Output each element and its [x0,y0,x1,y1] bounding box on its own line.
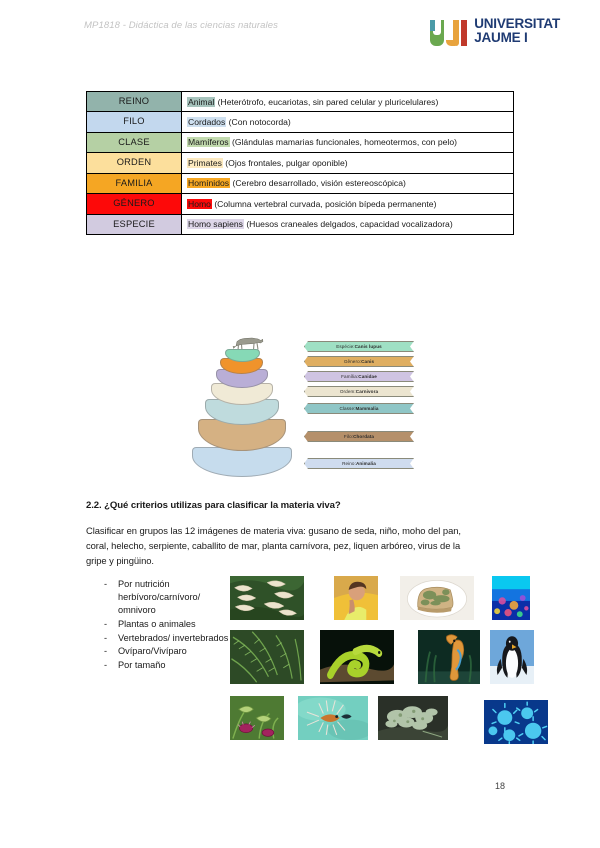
taxonomy-description-cell: Cordados (Con notocorda) [182,112,514,132]
table-row: CLASEMamíferos (Glándulas mamarias funci… [87,132,514,152]
taxon-name: Homo sapiens [187,219,244,229]
taxonomy-description-cell: Homo (Columna vertebral curvada, posició… [182,194,514,214]
rank-label-chip: Ordem: Carnivora [304,386,414,397]
photo-gusano-de-seda [230,576,304,620]
list-item: -Plantas o animales [104,618,229,631]
list-item: -Por nutrición herbívoro/carnívoro/ omni… [104,578,229,617]
taxonomy-table-body: REINOAnimal (Heterótrofo, eucariotas, si… [87,92,514,235]
taxonomy-rank-cell: ORDEN [87,153,182,173]
photo-liquen-arboreo [378,696,448,740]
rank-label-taxon: Carnivora [356,389,378,394]
page-header: MP1818 - Didáctica de las ciencias natur… [84,16,560,62]
table-row: ESPECIEHomo sapiens (Huesos craneales de… [87,214,514,234]
page-number: 18 [495,781,505,791]
logo-letter-j [446,20,459,46]
taxonomy-table: REINOAnimal (Heterótrofo, eucariotas, si… [86,91,514,235]
section-body-text: Clasificar en grupos las 12 imágenes de … [86,523,468,569]
taxonomy-description-cell: Animal (Heterótrofo, eucariotas, sin par… [182,92,514,112]
taxonomy-rank-cell: FAMILIA [87,173,182,193]
list-item: -Ovíparo/Vivíparo [104,645,229,658]
rank-label-taxon: Mammalia [356,406,379,411]
table-row: REINOAnimal (Heterótrofo, eucariotas, si… [87,92,514,112]
list-item: -Por tamaño [104,659,229,672]
table-row: FAMILIAHomínidos (Cerebro desarrollado, … [87,173,514,193]
taxonomy-rank-cell: FILO [87,112,182,132]
course-code: MP1818 - Didáctica de las ciencias natur… [84,20,278,31]
rank-label-rank: Reino: [342,461,356,466]
uji-logo: UNIVERSITAT JAUME I [430,16,560,46]
rank-label-chip: Reino: Animalia [304,458,414,469]
rank-label-taxon: Canis lupus [355,344,382,349]
taxonomy-description-cell: Mamíferos (Glándulas mamarias funcionale… [182,132,514,152]
taxonomy-description-cell: Primates (Ojos frontales, pulgar oponibl… [182,153,514,173]
rank-label-taxon: Canis [361,359,374,364]
rank-label-rank: Classe: [339,406,355,411]
rank-label-chip: Família: Canidae [304,371,414,382]
taxonomy-description-cell: Homínidos (Cerebro desarrollado, visión … [182,173,514,193]
rank-label-rank: Gênero: [344,359,361,364]
table-row: FILOCordados (Con notocorda) [87,112,514,132]
rank-label-rank: Família: [341,374,358,379]
taxon-traits: (Huesos craneales delgados, capacidad vo… [244,219,453,229]
taxonomic-hierarchy-figure: Espécie: Canis lupusGênero: CanisFamília… [186,333,414,478]
rank-label-rank: Ordem: [340,389,356,394]
taxon-traits: (Ojos frontales, pulgar oponible) [223,158,348,168]
photo-nino [334,576,378,620]
rank-label-taxon: Canidae [358,374,377,379]
table-row: GÉNEROHomo (Columna vertebral curvada, p… [87,194,514,214]
uji-wordmark-line1: UNIVERSITAT [474,17,560,31]
photo-moho-del-pan [400,576,474,620]
taxon-name: Homo [187,199,212,209]
bullet-dash: - [104,578,108,617]
table-row: ORDENPrimates (Ojos frontales, pulgar op… [87,153,514,173]
uji-logomark-icon [430,16,467,46]
photo-caballito-de-mar [418,630,480,684]
bullet-dash: - [104,632,108,645]
taxon-traits: (Heterótrofo, eucariotas, sin pared celu… [215,97,438,107]
criteria-item-label: Por nutrición herbívoro/carnívoro/ omniv… [118,578,229,617]
taxonomy-rank-cell: REINO [87,92,182,112]
rank-label-chip: Classe: Mammalia [304,403,414,414]
rank-label-taxon: Animalia [356,461,376,466]
taxonomy-bowl-layer [192,447,292,477]
list-item: -Vertebrados/ invertebrados [104,632,229,645]
taxon-traits: (Con notocorda) [226,117,291,127]
criteria-item-label: Plantas o animales [118,618,196,631]
photo-helecho [230,630,304,684]
photo-serpiente [320,630,394,684]
logo-letter-u [430,20,444,46]
section-heading: 2.2. ¿Qué criterios utilizas para clasif… [86,500,341,511]
bullet-dash: - [104,645,108,658]
taxonomy-description-cell: Homo sapiens (Huesos craneales delgados,… [182,214,514,234]
rank-label-chip: Espécie: Canis lupus [304,341,414,352]
rank-label-chip: Gênero: Canis [304,356,414,367]
taxon-name: Cordados [187,117,226,127]
taxon-name: Animal [187,97,215,107]
taxonomic-rank-labels: Espécie: Canis lupusGênero: CanisFamília… [304,341,414,476]
criteria-item-label: Por tamaño [118,659,166,672]
taxonomy-rank-cell: CLASE [87,132,182,152]
rank-label-chip: Filo: Chordata [304,431,414,442]
bullet-dash: - [104,659,108,672]
taxon-name: Primates [187,158,223,168]
uji-wordmark: UNIVERSITAT JAUME I [474,17,560,45]
rank-label-rank: Espécie: [336,344,354,349]
nested-bowls-illustration [190,335,294,477]
taxon-traits: (Glándulas mamarias funcionales, homeote… [230,137,457,147]
taxon-traits: (Columna vertebral curvada, posición bíp… [212,199,437,209]
criteria-list: -Por nutrición herbívoro/carnívoro/ omni… [104,578,229,673]
photo-pez [298,696,368,740]
taxon-name: Homínidos [187,178,230,188]
photo-coral [492,576,530,620]
photo-virus-de-la-gripe [484,700,548,744]
taxonomy-rank-cell: ESPECIE [87,214,182,234]
bullet-dash: - [104,618,108,631]
criteria-item-label: Ovíparo/Vivíparo [118,645,187,658]
criteria-item-label: Vertebrados/ invertebrados [118,632,228,645]
photo-planta-carnivora [230,696,284,740]
taxonomy-rank-cell: GÉNERO [87,194,182,214]
logo-letter-i [461,20,467,46]
rank-label-rank: Filo: [344,434,353,439]
taxon-name: Mamíferos [187,137,230,147]
taxon-traits: (Cerebro desarrollado, visión estereoscó… [230,178,406,188]
rank-label-taxon: Chordata [353,434,374,439]
uji-wordmark-line2: JAUME I [474,31,560,45]
photo-pinguino [490,630,534,684]
